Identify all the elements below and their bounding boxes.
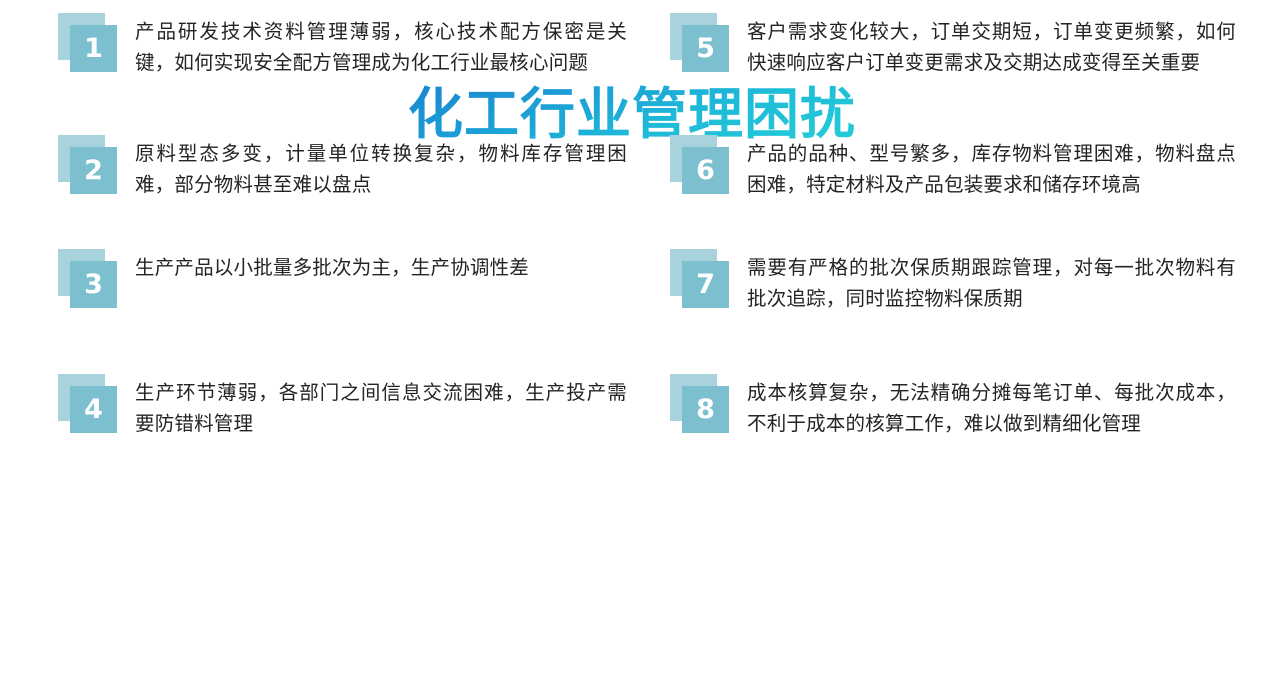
badge-number: 2: [70, 147, 117, 194]
list-item-text: 成本核算复杂，无法精确分摊每笔订单、每批次成本，不利于成本的核算工作，难以做到精…: [747, 372, 1236, 439]
badge-number: 1: [70, 25, 117, 72]
list-item: 8 成本核算复杂，无法精确分摊每笔订单、每批次成本，不利于成本的核算工作，难以做…: [670, 372, 1236, 439]
badge-number: 3: [70, 261, 117, 308]
number-badge: 1: [58, 13, 120, 75]
items-layer: 1 产品研发技术资料管理薄弱，核心技术配方保密是关键，如何实现安全配方管理成为化…: [0, 0, 1264, 687]
list-item: 1 产品研发技术资料管理薄弱，核心技术配方保密是关键，如何实现安全配方管理成为化…: [58, 11, 630, 78]
number-badge: 8: [670, 374, 732, 436]
list-item-text: 产品的品种、型号繁多，库存物料管理困难，物料盘点困难，特定材料及产品包装要求和储…: [747, 133, 1236, 200]
number-badge: 7: [670, 249, 732, 311]
badge-number: 6: [682, 147, 729, 194]
list-item-text: 原料型态多变，计量单位转换复杂，物料库存管理困难，部分物料甚至难以盘点: [135, 133, 627, 200]
number-badge: 2: [58, 135, 120, 197]
list-item: 7 需要有严格的批次保质期跟踪管理，对每一批次物料有批次追踪，同时监控物料保质期: [670, 247, 1236, 314]
slide-root: 化工行业管理困扰 1 产品研发技术资料管理薄弱，核心技术配方保密是关键，如何实现…: [0, 0, 1264, 687]
list-item: 4 生产环节薄弱，各部门之间信息交流困难，生产投产需要防错料管理: [58, 372, 630, 439]
list-item: 5 客户需求变化较大，订单交期短，订单变更频繁，如何快速响应客户订单变更需求及交…: [670, 11, 1236, 78]
list-item-text: 需要有严格的批次保质期跟踪管理，对每一批次物料有批次追踪，同时监控物料保质期: [747, 247, 1236, 314]
list-item-text: 生产环节薄弱，各部门之间信息交流困难，生产投产需要防错料管理: [135, 372, 627, 439]
number-badge: 6: [670, 135, 732, 197]
number-badge: 5: [670, 13, 732, 75]
list-item: 6 产品的品种、型号繁多，库存物料管理困难，物料盘点困难，特定材料及产品包装要求…: [670, 133, 1236, 200]
badge-number: 5: [682, 25, 729, 72]
number-badge: 3: [58, 249, 120, 311]
badge-number: 4: [70, 386, 117, 433]
badge-number: 7: [682, 261, 729, 308]
list-item-text: 产品研发技术资料管理薄弱，核心技术配方保密是关键，如何实现安全配方管理成为化工行…: [135, 11, 627, 78]
list-item: 3 生产产品以小批量多批次为主，生产协调性差: [58, 247, 630, 311]
number-badge: 4: [58, 374, 120, 436]
list-item-text: 生产产品以小批量多批次为主，生产协调性差: [135, 247, 627, 283]
badge-number: 8: [682, 386, 729, 433]
list-item: 2 原料型态多变，计量单位转换复杂，物料库存管理困难，部分物料甚至难以盘点: [58, 133, 630, 200]
list-item-text: 客户需求变化较大，订单交期短，订单变更频繁，如何快速响应客户订单变更需求及交期达…: [747, 11, 1236, 78]
